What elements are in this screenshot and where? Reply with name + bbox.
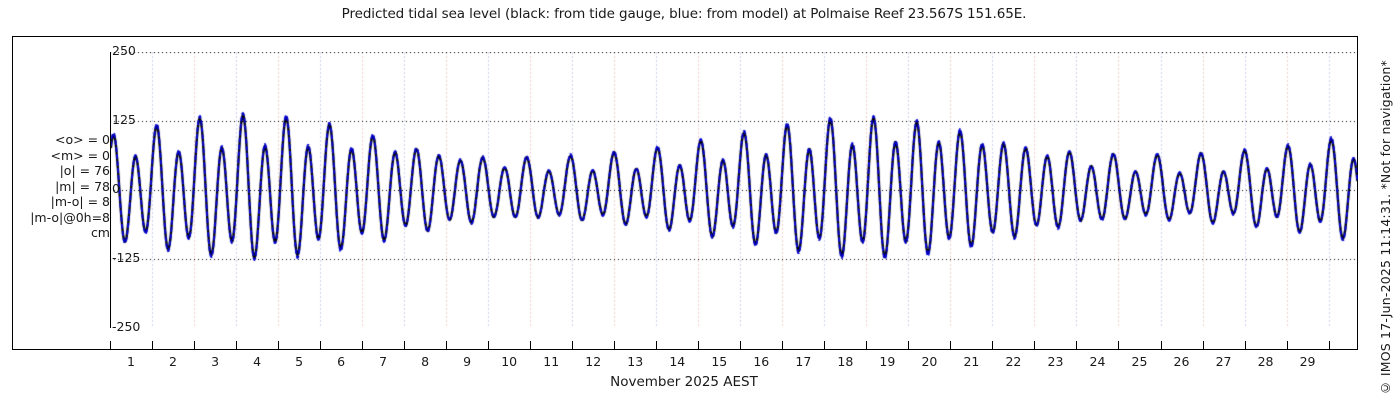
y-tick-label: 125 <box>112 112 136 127</box>
stat-abs-obs: |o| = 76 <box>6 163 110 179</box>
x-tick-mark <box>110 341 111 350</box>
x-tick-label: 22 <box>1005 354 1021 369</box>
x-tick-mark <box>446 341 447 350</box>
x-tick-label: 11 <box>543 354 559 369</box>
x-tick-mark <box>1118 341 1119 350</box>
y-tick-label: 0 <box>112 181 120 196</box>
x-tick-mark <box>1287 341 1288 350</box>
x-tick-label: 9 <box>463 354 471 369</box>
x-tick-mark <box>1329 341 1330 350</box>
statistics-block: <o> = 0 <m> = 0 |o| = 76 |m| = 78 |m-o| … <box>6 132 110 241</box>
x-tick-mark <box>1161 341 1162 350</box>
x-tick-mark <box>824 341 825 350</box>
x-tick-mark <box>194 341 195 350</box>
x-tick-label: 6 <box>337 354 345 369</box>
stat-abs-model: |m| = 78 <box>6 179 110 195</box>
x-tick-label: 17 <box>795 354 811 369</box>
x-tick-label: 29 <box>1300 354 1316 369</box>
x-tick-mark <box>404 341 405 350</box>
x-tick-mark <box>698 341 699 350</box>
chart-page: Predicted tidal sea level (black: from t… <box>0 0 1400 400</box>
x-tick-mark <box>236 341 237 350</box>
x-tick-label: 23 <box>1048 354 1064 369</box>
x-axis-label: November 2025 AEST <box>0 374 1368 390</box>
plot-area <box>110 52 1358 328</box>
x-tick-mark <box>866 341 867 350</box>
copyright-notice: © IMOS 17-Jun-2025 11:14:31. *Not for na… <box>1378 60 1393 396</box>
x-tick-label: 8 <box>421 354 429 369</box>
x-tick-label: 25 <box>1132 354 1148 369</box>
x-tick-mark <box>908 341 909 350</box>
x-tick-label: 1 <box>127 354 135 369</box>
x-tick-mark <box>152 341 153 350</box>
x-tick-label: 3 <box>211 354 219 369</box>
x-tick-mark <box>1034 341 1035 350</box>
y-tick-mark <box>110 117 111 126</box>
x-tick-mark <box>782 341 783 350</box>
y-tick-label: 250 <box>112 43 136 58</box>
stat-abs-diff-0h: |m-o|@0h=8 <box>6 210 110 226</box>
x-tick-label: 21 <box>963 354 979 369</box>
x-tick-label: 14 <box>669 354 685 369</box>
x-tick-mark <box>1203 341 1204 350</box>
x-tick-label: 7 <box>379 354 387 369</box>
x-tick-label: 19 <box>879 354 895 369</box>
x-tick-mark <box>1076 341 1077 350</box>
y-tick-label: -125 <box>112 250 140 265</box>
x-tick-mark <box>320 341 321 350</box>
x-tick-mark <box>278 341 279 350</box>
x-tick-mark <box>656 341 657 350</box>
stat-mean-obs: <o> = 0 <box>6 132 110 148</box>
x-tick-label: 26 <box>1174 354 1190 369</box>
x-tick-label: 16 <box>753 354 769 369</box>
x-tick-label: 2 <box>169 354 177 369</box>
x-tick-mark <box>614 341 615 350</box>
x-tick-label: 5 <box>295 354 303 369</box>
y-tick-mark <box>110 186 111 195</box>
x-tick-mark <box>530 341 531 350</box>
x-tick-label: 24 <box>1090 354 1106 369</box>
x-tick-label: 18 <box>837 354 853 369</box>
y-tick-mark <box>110 255 111 264</box>
x-tick-mark <box>950 341 951 350</box>
x-tick-mark <box>1245 341 1246 350</box>
tidal-series-canvas <box>110 52 1358 328</box>
y-tick-label: -250 <box>112 319 140 334</box>
x-tick-mark <box>992 341 993 350</box>
x-tick-mark <box>362 341 363 350</box>
page-title: Predicted tidal sea level (black: from t… <box>0 6 1368 22</box>
stat-mean-model: <m> = 0 <box>6 148 110 164</box>
x-tick-mark <box>488 341 489 350</box>
x-tick-label: 27 <box>1216 354 1232 369</box>
x-tick-label: 4 <box>253 354 261 369</box>
stat-units: cm <box>6 225 110 241</box>
x-tick-label: 13 <box>627 354 643 369</box>
x-tick-label: 28 <box>1258 354 1274 369</box>
x-tick-label: 15 <box>711 354 727 369</box>
x-tick-mark <box>572 341 573 350</box>
x-tick-label: 20 <box>921 354 937 369</box>
stat-abs-diff: |m-o| = 8 <box>6 194 110 210</box>
x-tick-label: 12 <box>585 354 601 369</box>
x-tick-label: 10 <box>501 354 517 369</box>
y-tick-mark <box>110 52 111 61</box>
y-tick-mark <box>110 319 111 328</box>
x-tick-mark <box>740 341 741 350</box>
